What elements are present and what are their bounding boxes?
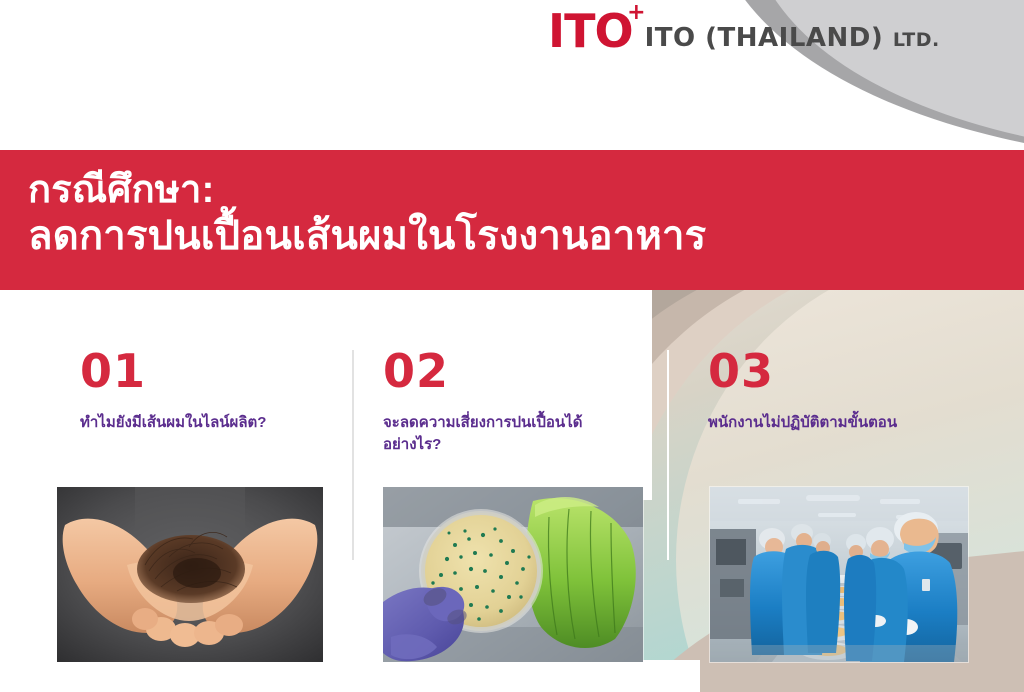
company-logo: ITO + ITO (THAILAND) LTD. xyxy=(548,8,940,54)
columns-container: 01 ทำไมยังมีเส้นผมในไลน์ผลิต? 02 จะลดควา… xyxy=(0,290,1024,692)
infographic-page: ITO + ITO (THAILAND) LTD. กรณีศึกษา: ลดก… xyxy=(0,0,1024,692)
logo-company-main: ITO (THAILAND) xyxy=(645,23,884,53)
banner-title-line-2: ลดการปนเปื้อนเส้นผมในโรงงานอาหาร xyxy=(28,213,1024,260)
column-01: 01 ทำไมยังมีเส้นผมในไลน์ผลิต? xyxy=(57,290,347,692)
column-02: 02 จะลดความเสี่ยงการปนเปื้อนได้อย่างไร? xyxy=(383,290,673,692)
column-divider-1 xyxy=(352,350,354,560)
logo-company-name: ITO (THAILAND) LTD. xyxy=(645,25,940,54)
column-heading-02: จะลดความเสี่ยงการปนเปื้อนได้อย่างไร? xyxy=(383,412,623,456)
column-divider-2 xyxy=(667,350,669,560)
title-banner: กรณีศึกษา: ลดการปนเปื้อนเส้นผมในโรงงานอา… xyxy=(0,150,1024,290)
banner-title-line-1: กรณีศึกษา: xyxy=(28,168,1024,213)
column-number-03: 03 xyxy=(708,348,774,394)
logo-mark: ITO + xyxy=(548,8,633,54)
logo-plus-icon: + xyxy=(627,2,644,24)
column-heading-03: พนักงานไม่ปฏิบัติตามขั้นตอน xyxy=(708,412,968,434)
column-03: 03 พนักงานไม่ปฏิบัติตามขั้นตอน xyxy=(708,290,998,692)
title-banner-inner: กรณีศึกษา: ลดการปนเปื้อนเส้นผมในโรงงานอา… xyxy=(0,150,1024,260)
logo-mark-text: ITO xyxy=(548,4,633,58)
column-number-02: 02 xyxy=(383,348,449,394)
white-mask-top-left xyxy=(0,0,560,150)
column-number-01: 01 xyxy=(80,348,146,394)
column-heading-01: ทำไมยังมีเส้นผมในไลน์ผลิต? xyxy=(80,412,330,434)
logo-company-suffix: LTD. xyxy=(893,29,940,51)
